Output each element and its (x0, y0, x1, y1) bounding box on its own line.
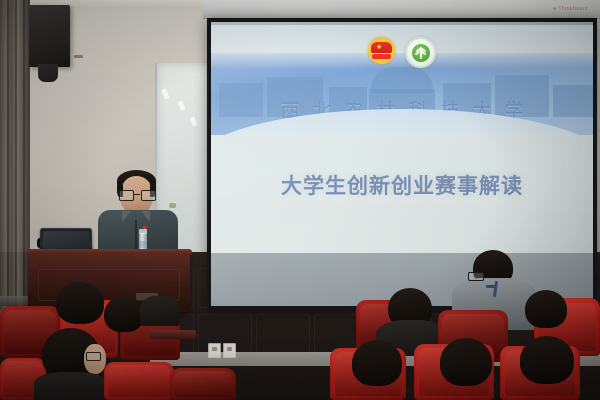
audience-bag (140, 296, 180, 326)
speaker-mount-bracket (38, 64, 58, 82)
screen-surface: 西北农林科技大学 ★ (211, 22, 593, 306)
audience-lanyard-strap (486, 285, 496, 288)
wall-mounted-speaker (29, 5, 70, 67)
curtain-fold (23, 0, 25, 330)
glasses-lens (141, 190, 156, 201)
outlet-socket (227, 347, 232, 351)
audience-head (56, 282, 104, 324)
housing-brand-label: ThinkBoard (553, 6, 588, 12)
wood-panel (256, 314, 310, 354)
curtain-fold (7, 0, 9, 330)
audience-head (440, 338, 492, 386)
audience-head (525, 290, 567, 328)
whiteboard-glare (161, 88, 169, 99)
window-curtain (0, 0, 30, 330)
emblem-flag-shape: ★ (371, 42, 392, 53)
auditorium-seat (170, 368, 236, 400)
shirt-collar-right (141, 211, 150, 222)
seat-shading (108, 365, 170, 397)
seat-shading (174, 371, 232, 398)
brand-dot-icon (553, 7, 556, 10)
emblem-band (372, 54, 391, 59)
slide-logo-row: ★ (211, 37, 593, 68)
audience-head (520, 336, 574, 384)
laptop-screen (43, 231, 89, 249)
university-emblem-icon (405, 37, 436, 68)
speaker-brand-badge (74, 55, 83, 58)
projection-screen: 西北农林科技大学 ★ (207, 18, 597, 310)
audience-glasses-icon (86, 352, 101, 361)
audience-shoulders (34, 372, 108, 400)
lecture-hall-photo: ThinkBoard 西北农林科技大学 (0, 0, 600, 400)
presenter-glasses-icon (119, 190, 154, 199)
water-bottle-label (139, 241, 147, 248)
communist-youth-league-emblem-icon: ★ (368, 37, 395, 64)
shirt-collar-left (122, 211, 131, 222)
audience-head (352, 340, 402, 386)
emblem-inner-disc (412, 44, 430, 62)
whiteboard-glare (177, 100, 185, 110)
projector-screen-housing: ThinkBoard (203, 0, 600, 19)
audience-head (104, 296, 144, 332)
auditorium-seat (104, 362, 174, 400)
star-icon: ★ (376, 44, 382, 51)
curtain-fold (15, 0, 17, 330)
audience-desk-edge (150, 330, 196, 339)
glasses-bridge (133, 194, 140, 195)
glasses-lens (119, 190, 134, 201)
outlet-socket (212, 347, 217, 351)
presentation-slide: 西北农林科技大学 ★ (211, 25, 593, 253)
slide-title-text: 大学生创新创业赛事解读 (211, 170, 593, 200)
audience-glasses-icon (468, 272, 484, 281)
whiteboard-glare (189, 116, 197, 126)
